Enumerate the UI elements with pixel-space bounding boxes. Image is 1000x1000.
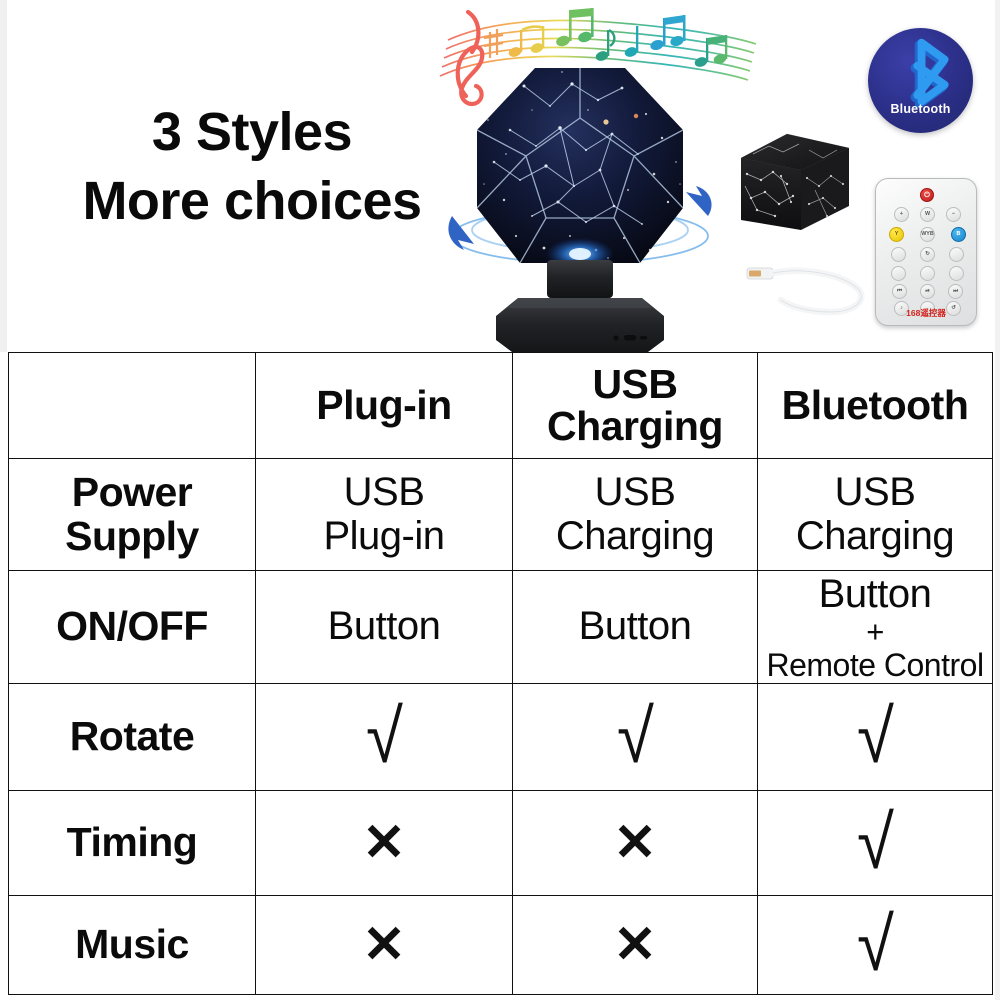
- row-label-music: Music: [9, 895, 256, 994]
- remote-wyb-button: WYB: [920, 227, 935, 242]
- remote-power-button: ⏻: [920, 188, 934, 202]
- cell-music-bluetooth: √: [758, 895, 993, 994]
- check-icon: √: [857, 907, 894, 982]
- remote-yellow-button: Y: [889, 227, 904, 242]
- remote-control: ⏻ + W − Y WYB B ↻ ⏮ ⏯ ⏭ ♪ ↺ 168遥控器: [875, 178, 977, 326]
- row-label-power-supply-line1: Power: [72, 469, 193, 515]
- hero-section: 3 Styles More choices: [0, 0, 1000, 352]
- cell-music-plug-in: ✕: [256, 895, 513, 994]
- cell-onoff-usb-charging: Button: [513, 571, 758, 684]
- page-title: 3 Styles More choices: [52, 98, 452, 236]
- remote-plus-button: +: [894, 207, 909, 222]
- cell-power-plug-in-line1: USB: [344, 470, 425, 514]
- cell-onoff-bluetooth-plus: +: [762, 616, 988, 649]
- cell-onoff-bluetooth: Button + Remote Control: [758, 571, 993, 684]
- table-row-music: Music ✕ ✕ √: [9, 895, 993, 994]
- remote-blue-button: B: [951, 227, 966, 242]
- table-row-on-off: ON/OFF Button Button Button + Remote Con…: [9, 571, 993, 684]
- usb-cable: [745, 250, 875, 325]
- bluetooth-label: Bluetooth: [868, 102, 973, 116]
- table-header-row: Plug-in USB Charging Bluetooth: [9, 353, 993, 459]
- cross-icon: ✕: [613, 919, 657, 971]
- row-label-power-supply: Power Supply: [9, 459, 256, 571]
- row-label-timing: Timing: [9, 790, 256, 895]
- check-icon: √: [857, 805, 894, 880]
- table-corner-cell: [9, 353, 256, 459]
- column-header-usb-charging-line2: Charging: [547, 403, 723, 449]
- remote-minus-button: −: [946, 207, 961, 222]
- row-label-on-off: ON/OFF: [9, 571, 256, 684]
- remote-mode-b-button: [949, 247, 964, 262]
- constellation-gift-box: [735, 128, 855, 233]
- cell-power-usb-charging-line1: USB: [595, 470, 676, 514]
- table-row-timing: Timing ✕ ✕ √: [9, 790, 993, 895]
- remote-next-button: ⏭: [948, 284, 963, 299]
- infographic-page: 3 Styles More choices: [0, 0, 1000, 1000]
- cell-power-bluetooth-line1: USB: [835, 470, 916, 514]
- table-row-power-supply: Power Supply USB Plug-in USB Charging US…: [9, 459, 993, 571]
- check-icon: √: [857, 699, 894, 774]
- remote-model-label: 168遥控器: [876, 307, 976, 319]
- row-label-rotate: Rotate: [9, 683, 256, 790]
- bluetooth-icon: [868, 28, 973, 133]
- remote-timer-10min-button: [891, 266, 906, 281]
- cell-timing-usb-charging: ✕: [513, 790, 758, 895]
- remote-mode-a-button: [891, 247, 906, 262]
- cell-rotate-bluetooth: √: [758, 683, 993, 790]
- comparison-table: Plug-in USB Charging Bluetooth Power Sup…: [8, 352, 993, 995]
- remote-volume-up-button: [920, 266, 935, 281]
- cell-music-usb-charging: ✕: [513, 895, 758, 994]
- cell-power-bluetooth: USB Charging: [758, 459, 993, 571]
- cell-power-plug-in: USB Plug-in: [256, 459, 513, 571]
- cell-power-plug-in-line2: Plug-in: [323, 514, 444, 558]
- cross-icon: ✕: [362, 919, 406, 971]
- cell-rotate-usb-charging: √: [513, 683, 758, 790]
- cell-rotate-plug-in: √: [256, 683, 513, 790]
- cell-timing-bluetooth: √: [758, 790, 993, 895]
- star-projector-lamp: [440, 58, 720, 358]
- column-header-usb-charging-line1: USB: [592, 361, 677, 407]
- remote-timer-60min-button: [949, 266, 964, 281]
- headline-line-1: 3 Styles: [52, 98, 452, 167]
- cell-onoff-bluetooth-line1: Button: [819, 572, 932, 616]
- remote-w-button: W: [920, 207, 935, 222]
- remote-playpause-button: ⏯: [920, 284, 935, 299]
- column-header-plug-in: Plug-in: [256, 353, 513, 459]
- cross-icon: ✕: [362, 817, 406, 869]
- cell-onoff-bluetooth-line3: Remote Control: [762, 649, 988, 681]
- cell-power-usb-charging-line2: Charging: [556, 514, 714, 558]
- remote-rotate-button: ↻: [920, 247, 935, 262]
- table-row-rotate: Rotate √ √ √: [9, 683, 993, 790]
- column-header-usb-charging: USB Charging: [513, 353, 758, 459]
- cell-onoff-plug-in: Button: [256, 571, 513, 684]
- row-label-power-supply-line2: Supply: [65, 513, 199, 559]
- cross-icon: ✕: [613, 817, 657, 869]
- bluetooth-badge: Bluetooth: [868, 28, 973, 133]
- check-icon: √: [366, 699, 403, 774]
- cell-timing-plug-in: ✕: [256, 790, 513, 895]
- headline-line-2: More choices: [52, 167, 452, 236]
- cell-power-bluetooth-line2: Charging: [796, 514, 954, 558]
- check-icon: √: [617, 699, 654, 774]
- remote-previous-button: ⏮: [892, 284, 907, 299]
- cell-power-usb-charging: USB Charging: [513, 459, 758, 571]
- column-header-bluetooth: Bluetooth: [758, 353, 993, 459]
